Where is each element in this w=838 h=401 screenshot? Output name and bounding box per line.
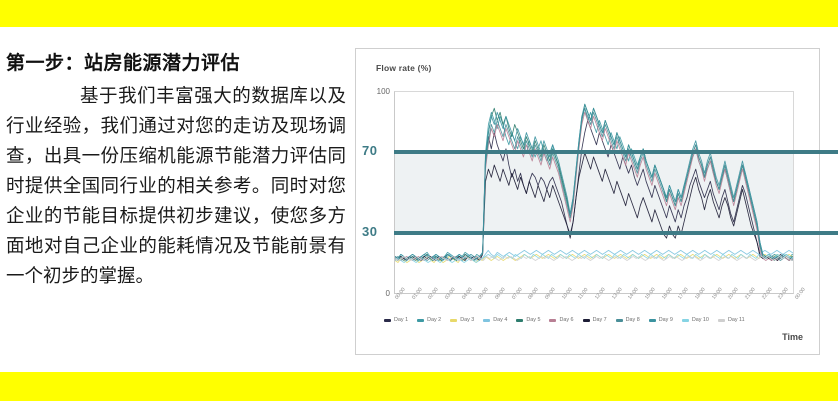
legend-swatch-icon <box>616 319 623 322</box>
legend-item[interactable]: Day 4 <box>483 317 507 323</box>
chart-card: Flow rate (%) 100 0 70 30 00:0001:0002:0… <box>355 48 820 355</box>
legend-item[interactable]: Day 3 <box>450 317 474 323</box>
legend-swatch-icon <box>718 319 725 322</box>
threshold-line-70 <box>394 150 838 154</box>
legend-label: Day 2 <box>427 317 441 323</box>
legend-item[interactable]: Day 9 <box>649 317 673 323</box>
legend-item[interactable]: Day 11 <box>718 317 745 323</box>
legend-swatch-icon <box>682 319 689 322</box>
legend-label: Day 6 <box>559 317 573 323</box>
text-column: 第一步：站房能源潜力评估 基于我们丰富强大的数据库以及行业经验，我们通过对您的走… <box>6 52 346 292</box>
legend-swatch-icon <box>384 319 391 322</box>
legend-label: Day 1 <box>394 317 408 323</box>
x-axis-ticks: 00:0001:0002:0003:0004:0005:0006:0007:00… <box>394 297 794 329</box>
plot-area <box>394 91 794 294</box>
legend-item[interactable]: Day 2 <box>417 317 441 323</box>
slide-heading: 第一步：站房能源潜力评估 <box>6 52 346 77</box>
legend-item[interactable]: Day 6 <box>549 317 573 323</box>
legend-swatch-icon <box>450 319 457 322</box>
legend-label: Day 9 <box>659 317 673 323</box>
threshold-label-70: 70 <box>362 143 377 158</box>
threshold-line-30 <box>394 231 838 235</box>
legend-label: Day 4 <box>493 317 507 323</box>
chart-legend: Day 1Day 2Day 3Day 4Day 5Day 6Day 7Day 8… <box>384 317 745 323</box>
legend-label: Day 11 <box>728 317 745 323</box>
x-tick-label: 00:00 <box>794 287 807 301</box>
chart-title: Flow rate (%) <box>376 63 432 73</box>
legend-label: Day 7 <box>593 317 607 323</box>
legend-item[interactable]: Day 8 <box>616 317 640 323</box>
slide-paragraph: 基于我们丰富强大的数据库以及行业经验，我们通过对您的走访及现场调查，出具一份压缩… <box>6 83 346 293</box>
legend-item[interactable]: Day 10 <box>682 317 709 323</box>
legend-item[interactable]: Day 7 <box>583 317 607 323</box>
top-yellow-band <box>0 0 838 27</box>
x-axis-title: Time <box>782 332 803 342</box>
y-axis-label-min: 0 <box>364 289 390 298</box>
legend-swatch-icon <box>583 319 590 322</box>
bottom-yellow-band <box>0 372 838 401</box>
legend-label: Day 5 <box>526 317 540 323</box>
plot-wrapper <box>394 91 794 294</box>
y-axis-label-max: 100 <box>364 87 390 96</box>
legend-item[interactable]: Day 5 <box>516 317 540 323</box>
legend-item[interactable]: Day 1 <box>384 317 408 323</box>
threshold-label-30: 30 <box>362 224 377 239</box>
legend-swatch-icon <box>549 319 556 322</box>
legend-swatch-icon <box>483 319 490 322</box>
legend-swatch-icon <box>516 319 523 322</box>
legend-label: Day 3 <box>460 317 474 323</box>
legend-label: Day 8 <box>626 317 640 323</box>
legend-swatch-icon <box>417 319 424 322</box>
legend-label: Day 10 <box>692 317 709 323</box>
legend-swatch-icon <box>649 319 656 322</box>
series-lines <box>395 92 794 294</box>
